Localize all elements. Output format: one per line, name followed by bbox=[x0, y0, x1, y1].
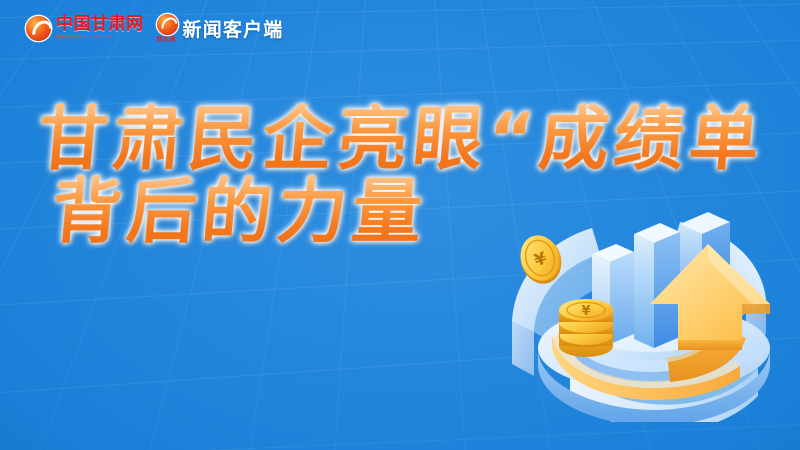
headline-line-1: 甘肃民企亮眼“成绩单” bbox=[35, 104, 771, 175]
logo-gansu-net-url: www.gscn.com.cn bbox=[56, 35, 144, 41]
gansu-net-flame-logo-icon bbox=[26, 16, 51, 41]
isometric-growth-chart-illustration: ¥ ¥ bbox=[474, 196, 794, 422]
logo-xibeijiao-title: 西北角 bbox=[157, 37, 178, 43]
gold-coin-stack: ¥ bbox=[559, 299, 613, 357]
logo-gansu-net[interactable]: 中国甘肃网 www.gscn.com.cn bbox=[26, 16, 144, 41]
logo-xibeijiao-wrap: 西北角 bbox=[157, 14, 178, 43]
coin-stack-yen-symbol: ¥ bbox=[581, 304, 590, 319]
poster-canvas: 中国甘肃网 www.gscn.com.cn 西北角 新闻客户端 甘肃民企亮眼“成… bbox=[0, 0, 800, 450]
logo-gansu-net-text: 中国甘肃网 www.gscn.com.cn bbox=[56, 16, 144, 41]
news-app-name: 新闻客户端 bbox=[183, 15, 284, 42]
xibeijiao-flame-logo-icon bbox=[157, 14, 178, 35]
logo-news-app[interactable]: 西北角 新闻客户端 bbox=[157, 14, 284, 43]
site-header: 中国甘肃网 www.gscn.com.cn 西北角 新闻客户端 bbox=[26, 11, 284, 45]
logo-gansu-net-title: 中国甘肃网 bbox=[56, 16, 144, 33]
